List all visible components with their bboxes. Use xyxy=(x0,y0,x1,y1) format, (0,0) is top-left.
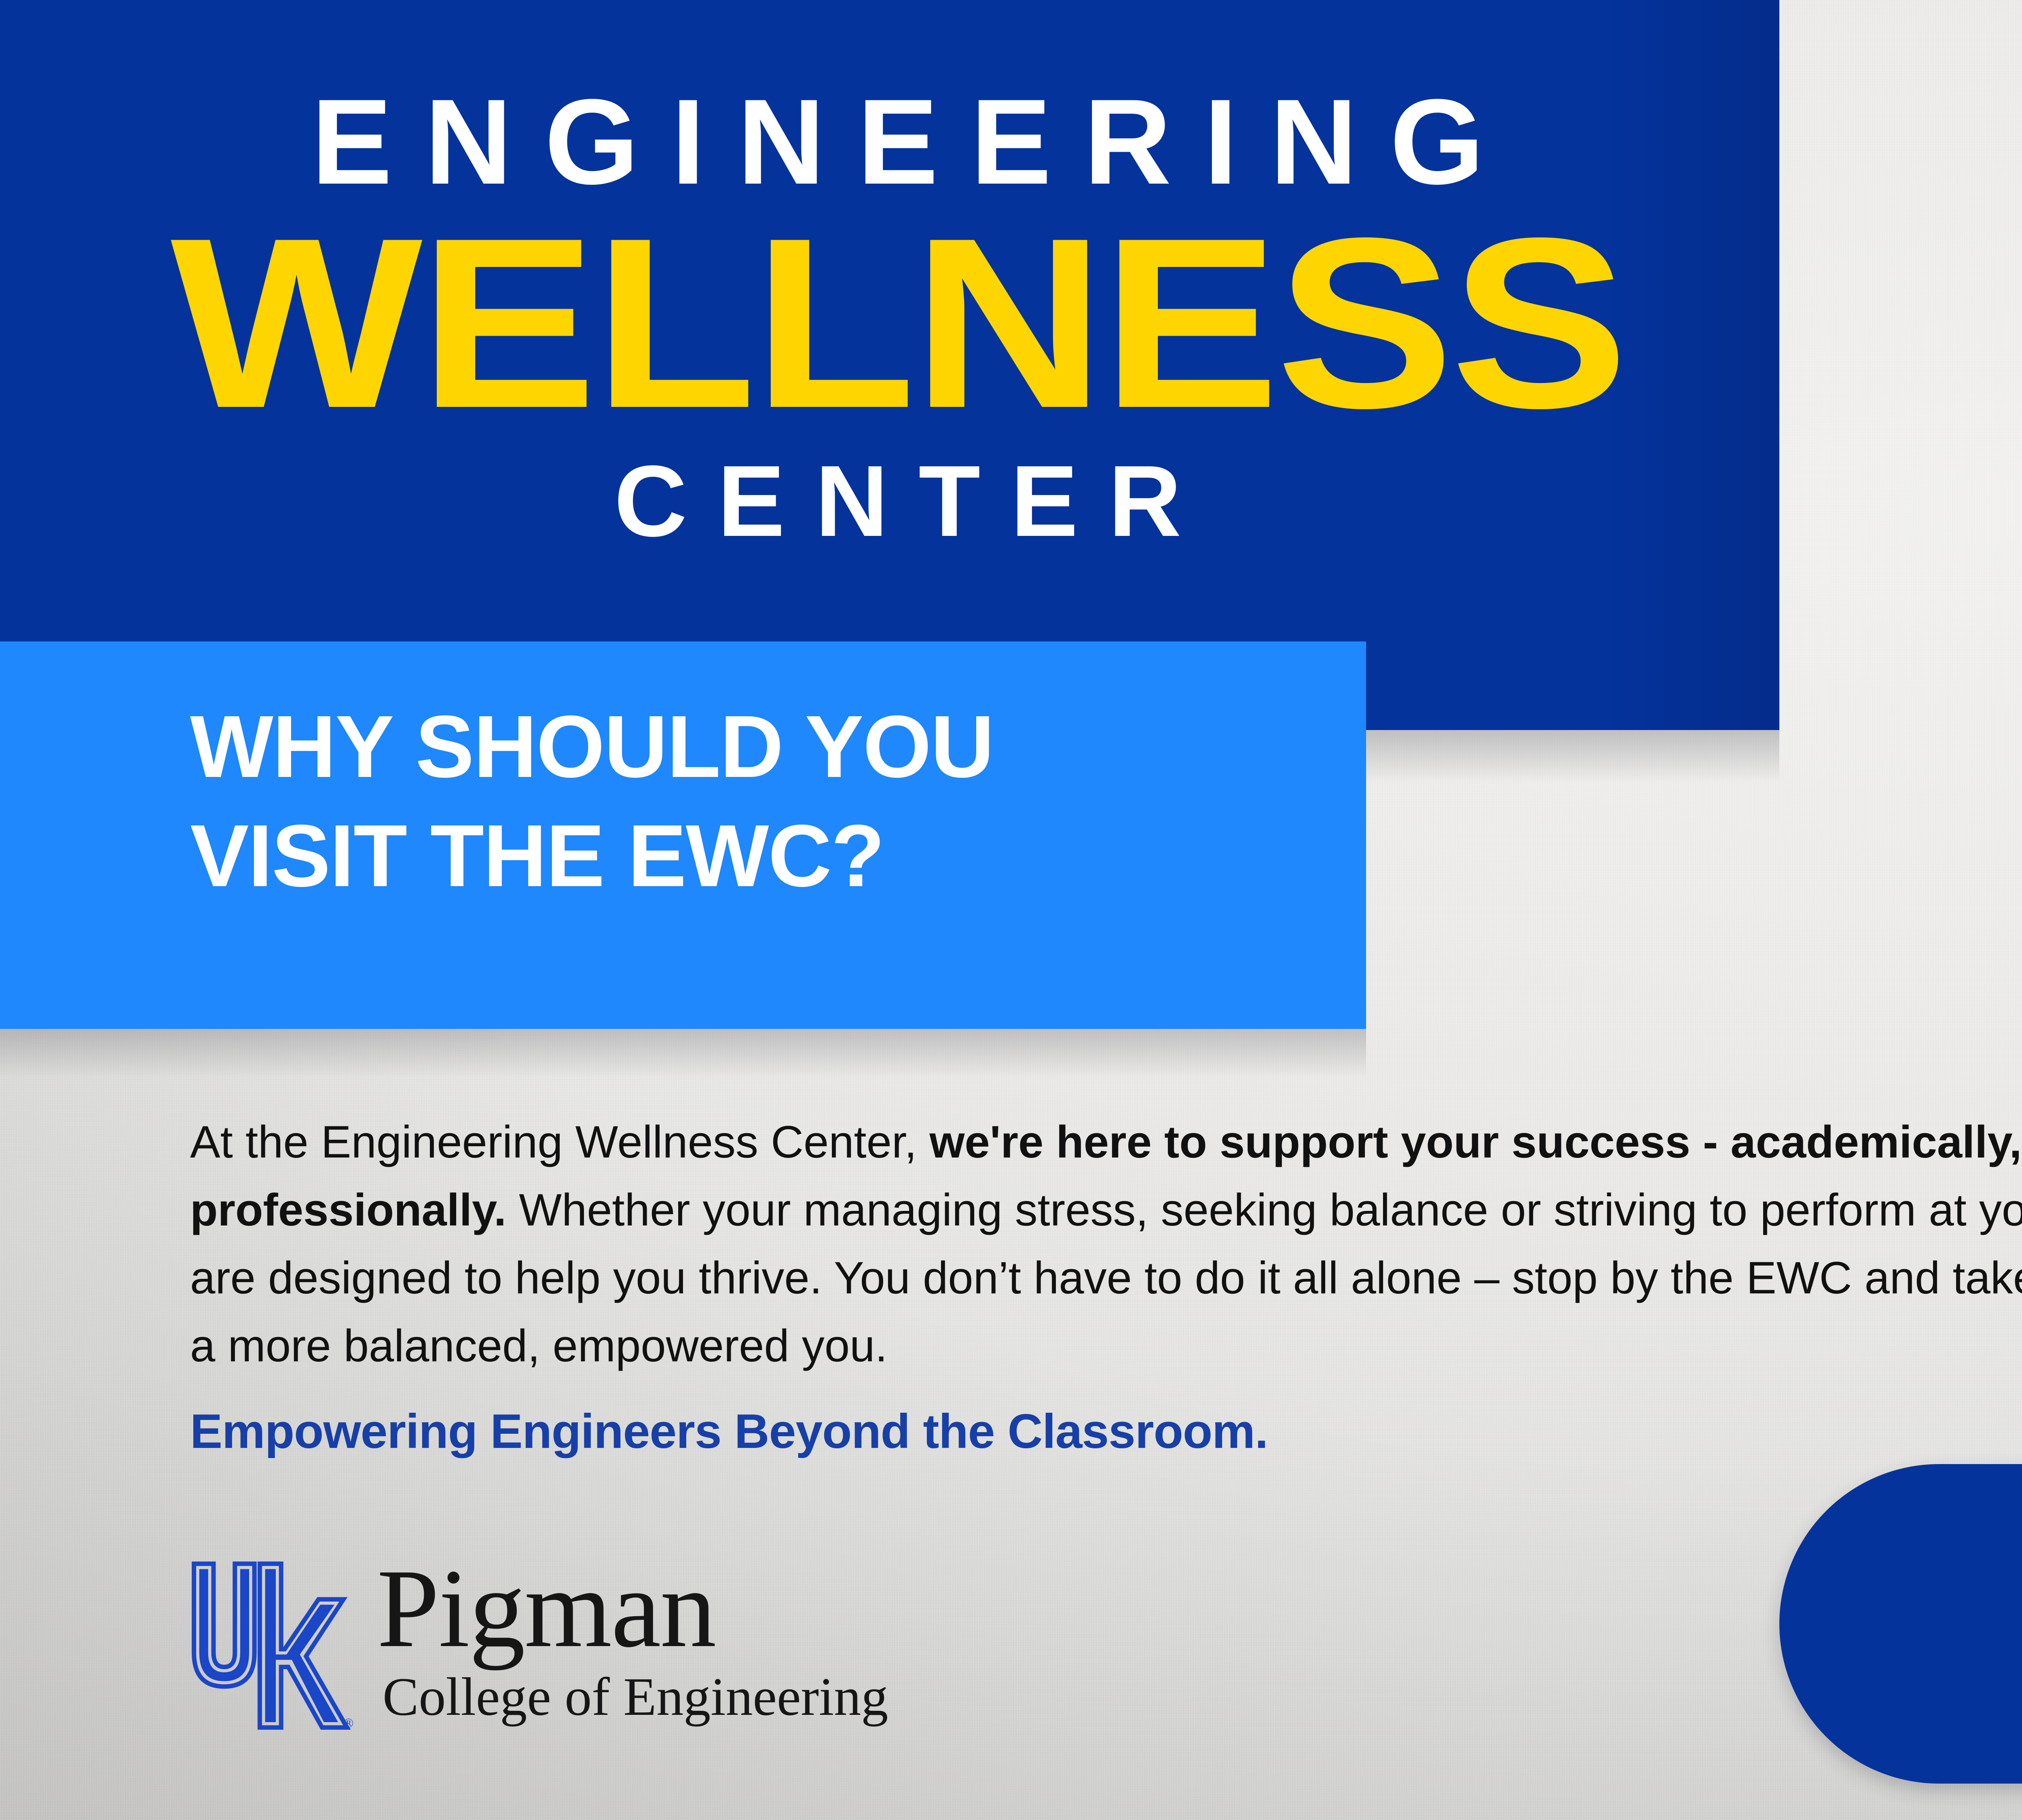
wordmark-line-engineering: ENGINEERING xyxy=(186,81,1610,202)
logo-wordmark: Pigman College of Engineering xyxy=(377,1553,888,1724)
blue-banner-dropshadow xyxy=(0,1029,1366,1077)
question-banner-heading: WHY SHOULD YOU VISIT THE EWC? xyxy=(190,692,1343,911)
logo-name: Pigman xyxy=(377,1557,888,1661)
body-lead: At the Engineering Wellness Center, xyxy=(190,1117,929,1167)
uk-pigman-logo: ® Pigman College of Engineering xyxy=(178,1553,888,1731)
logo-subtitle: College of Engineering xyxy=(383,1670,888,1724)
wordmark-line-wellness: WELLNESS xyxy=(115,208,1681,438)
tagline: Empowering Engineers Beyond the Classroo… xyxy=(190,1403,1268,1459)
svg-text:®: ® xyxy=(343,1716,353,1731)
wordmark: ENGINEERING WELLNESS CENTER xyxy=(186,81,1610,552)
banner-line-2: VISIT THE EWC? xyxy=(190,802,1343,911)
banner-line-1: WHY SHOULD YOU xyxy=(190,692,1343,802)
wordmark-line-center: CENTER xyxy=(186,451,1610,552)
body-paragraph: At the Engineering Wellness Center, we'r… xyxy=(190,1108,2022,1380)
uk-monogram-icon: ® xyxy=(178,1553,356,1731)
